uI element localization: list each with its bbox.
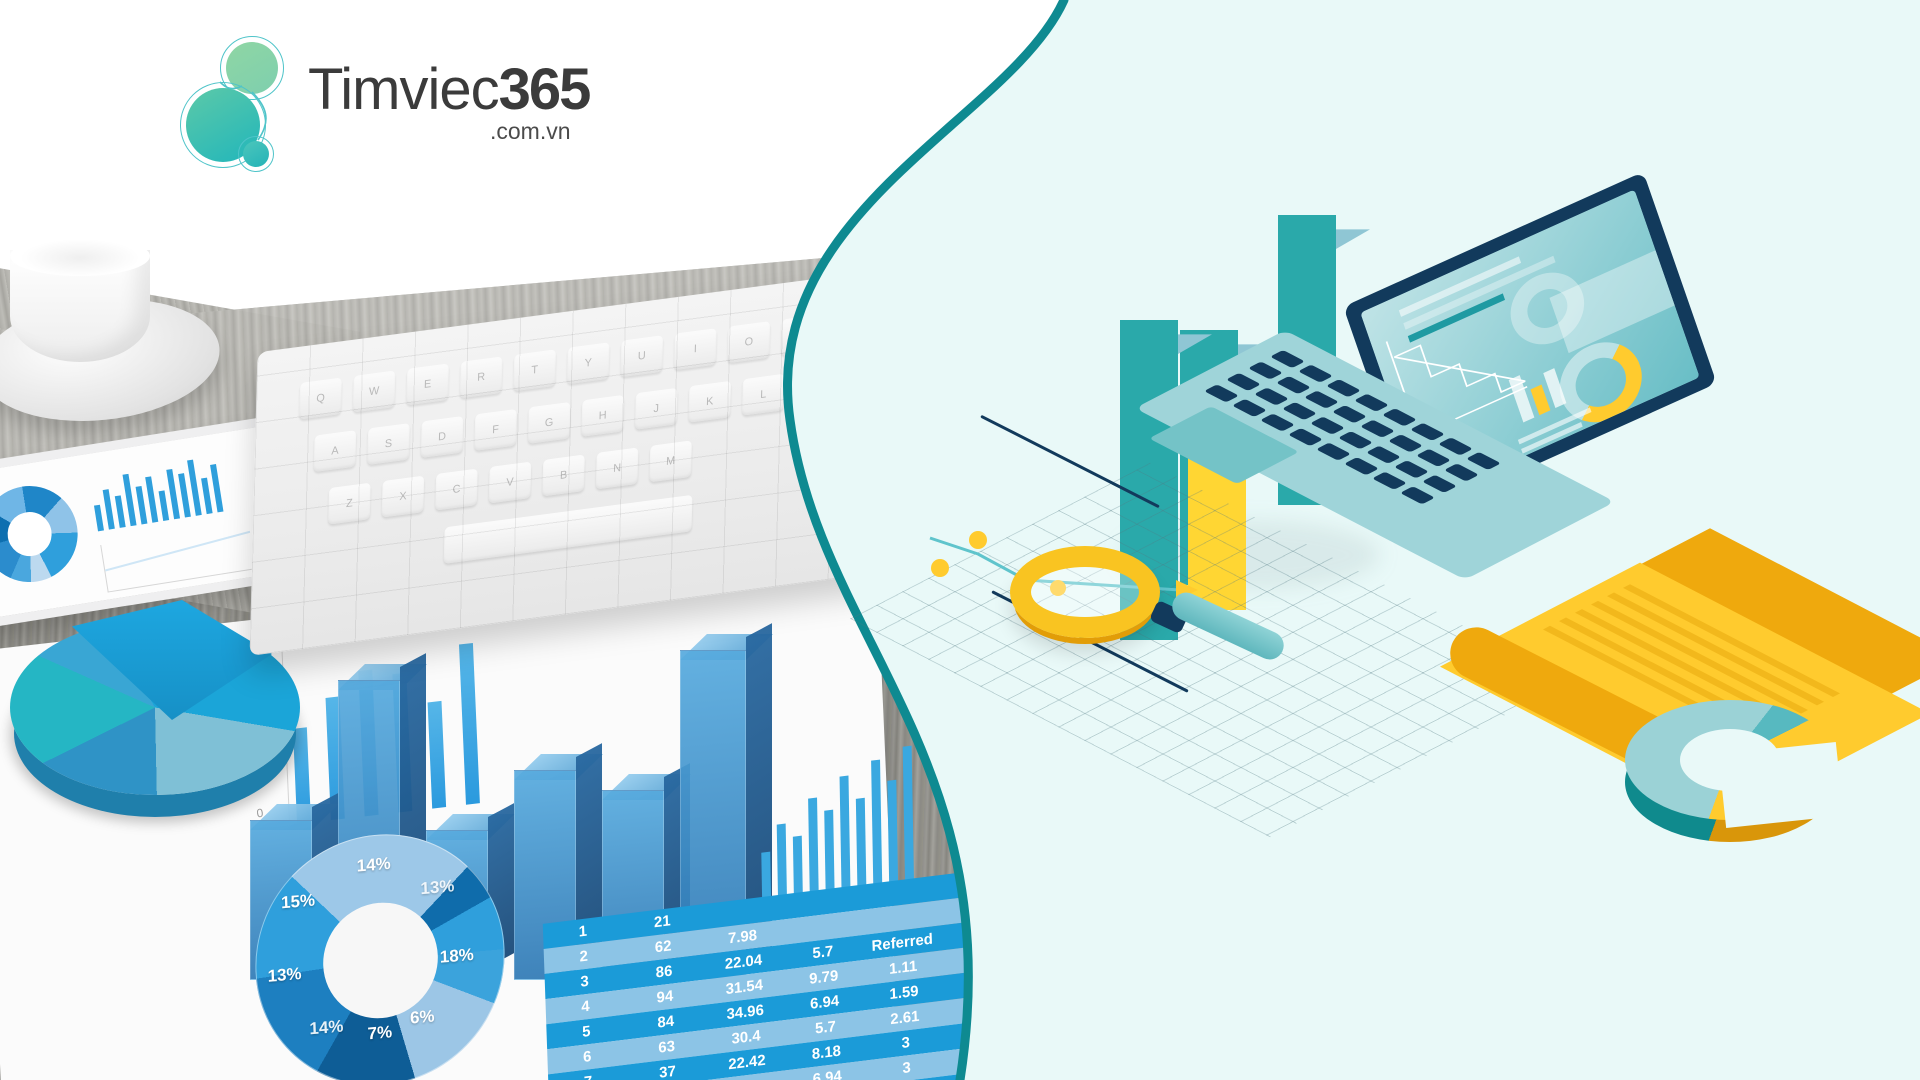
- iso-donut-chart: [1625, 700, 1835, 820]
- banner-canvas: 30 20 10 0: [0, 0, 1920, 1080]
- node-connector-icon: [180, 36, 310, 168]
- brand-wordmark: Timviec365: [308, 56, 589, 123]
- donut-3d-gap: [1718, 742, 1843, 828]
- brand-tld: .com.vn: [490, 118, 571, 145]
- brand-name-bold: 365: [499, 57, 590, 122]
- molecule-nodes-logo-icon: [180, 36, 310, 164]
- brand-logo[interactable]: Timviec365 .com.vn: [180, 30, 600, 160]
- magnifier-lens: [1010, 546, 1160, 638]
- brand-name-light: Timviec: [308, 57, 499, 122]
